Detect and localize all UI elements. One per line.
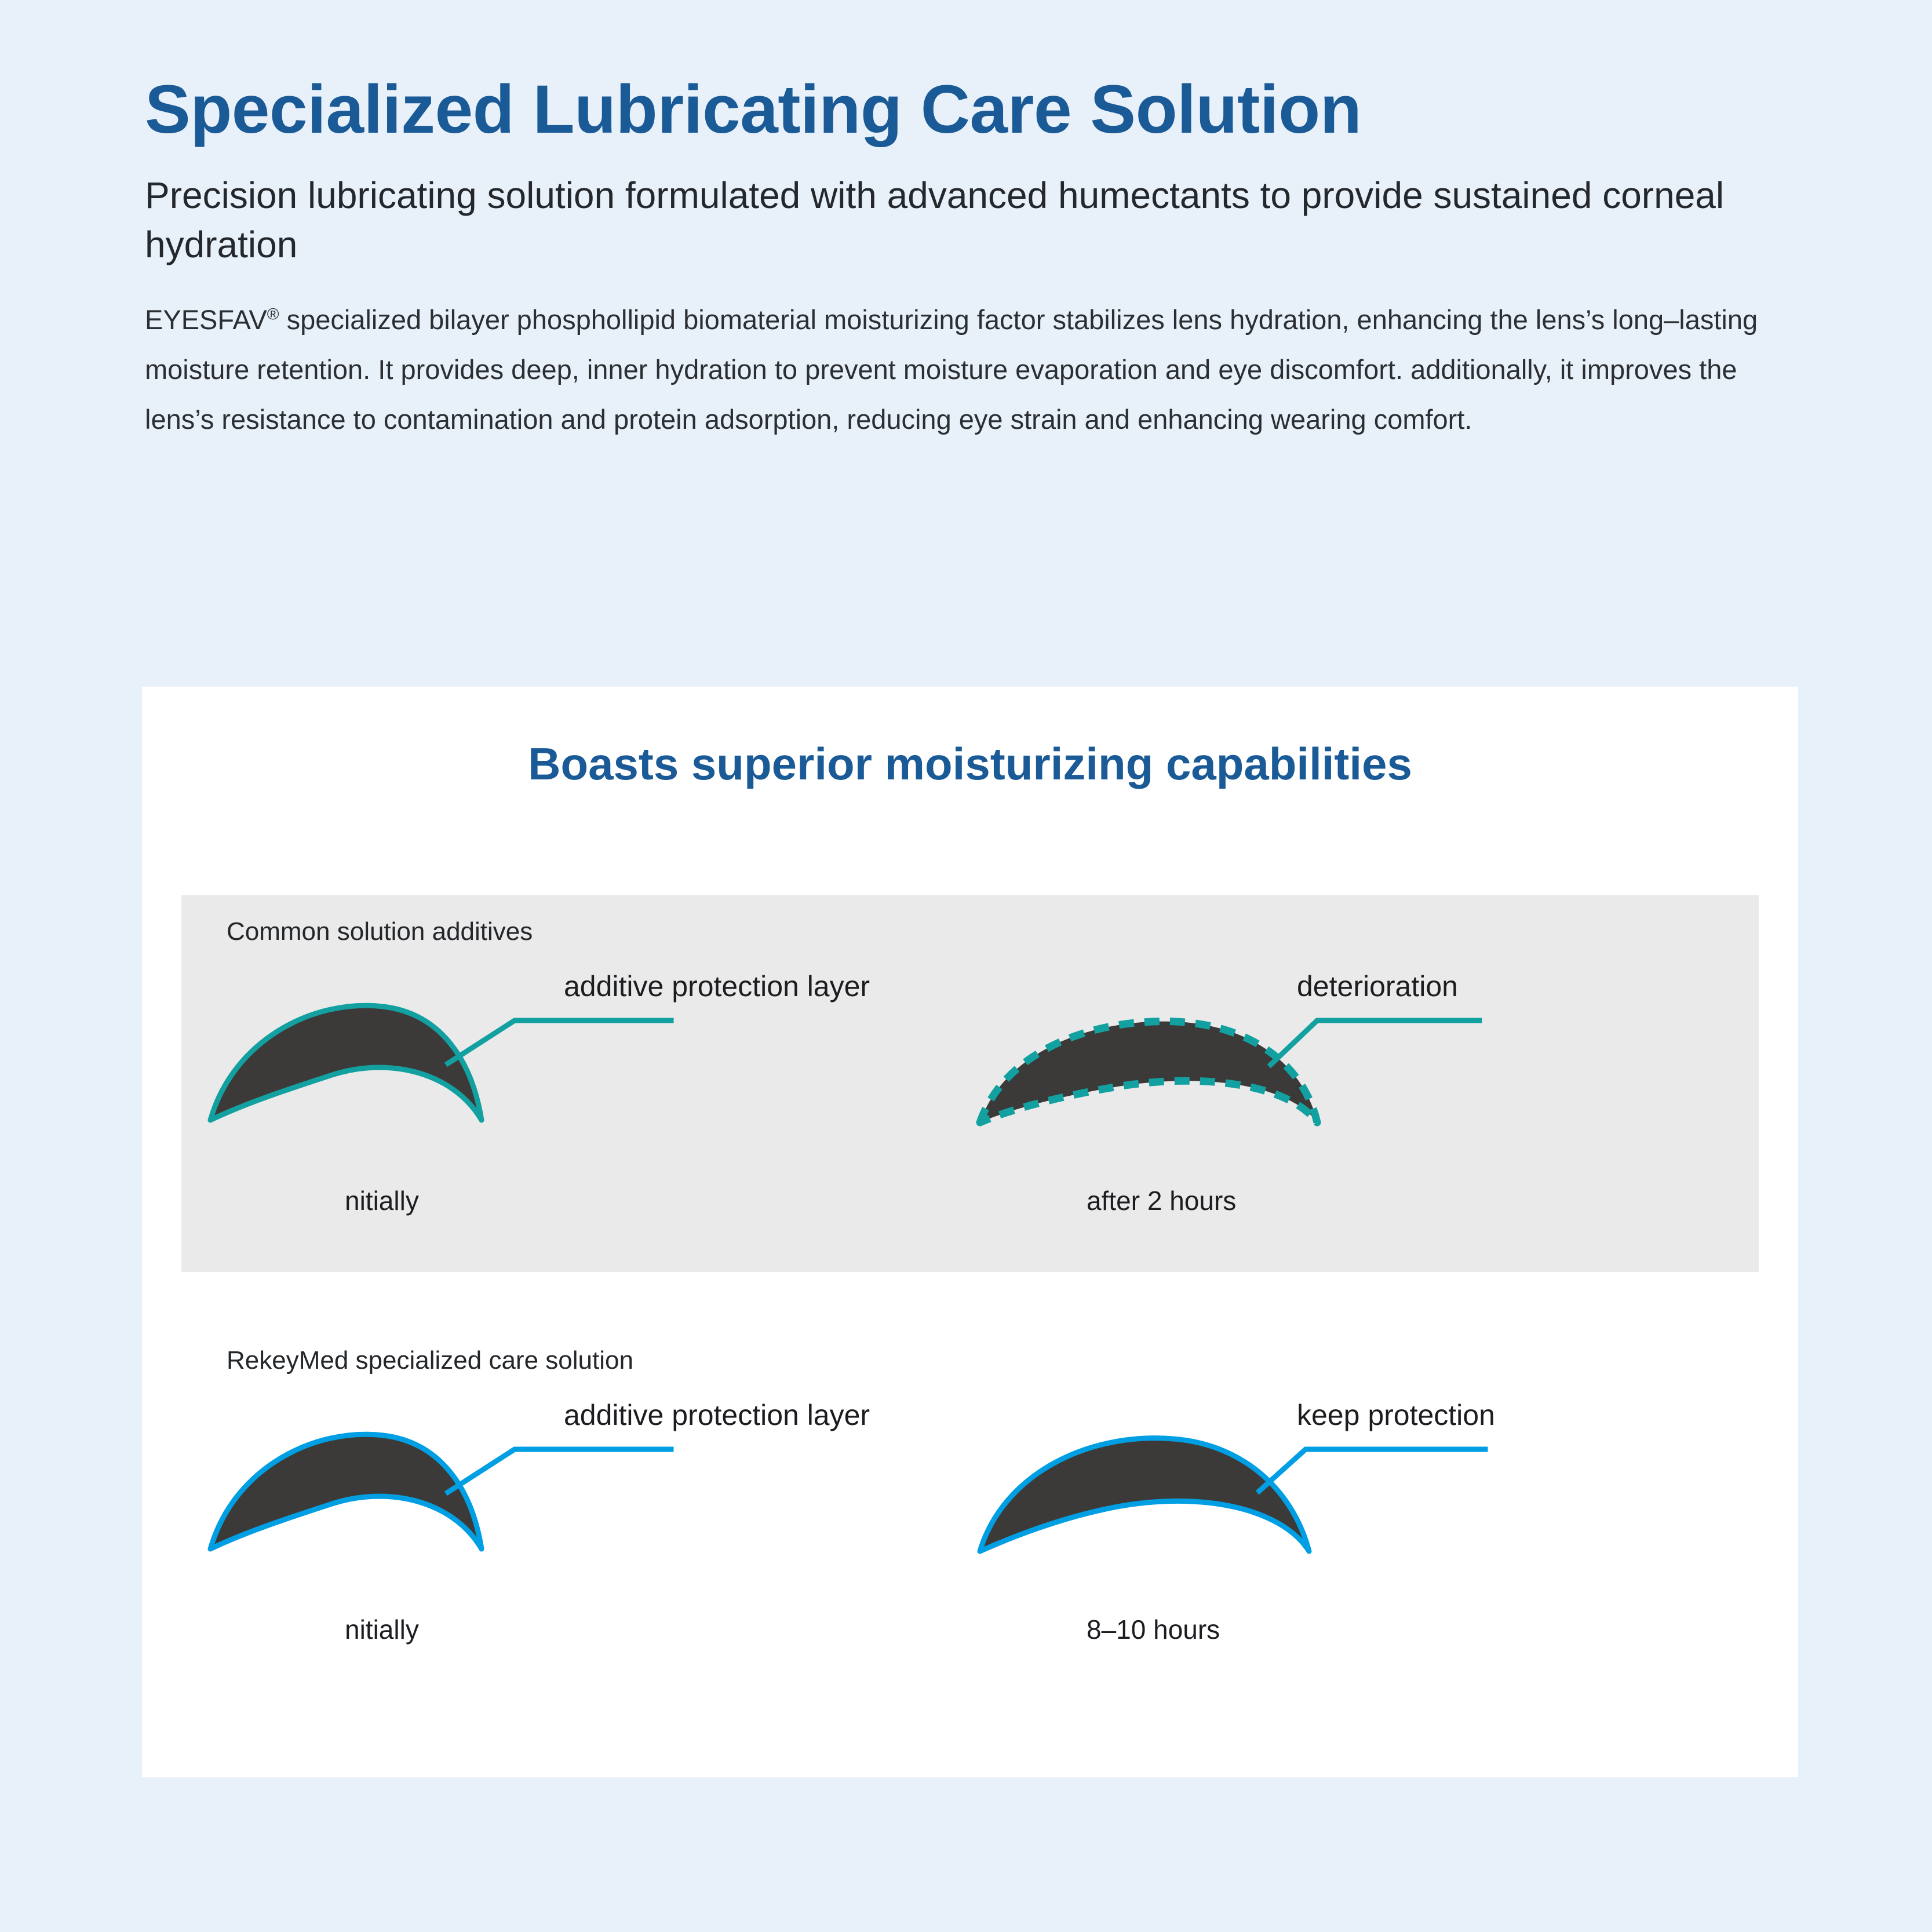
leader-line: [448, 1449, 671, 1492]
caption-nitially: nitially: [345, 1185, 419, 1216]
leader-line: [1271, 1020, 1479, 1065]
infographic-page: Specialized Lubricating Care Solution Pr…: [0, 0, 1932, 1932]
brand-name: EYESFAV: [145, 304, 267, 335]
leader-line: [1259, 1449, 1485, 1491]
caption-nitially: nitially: [345, 1614, 419, 1645]
header-block: Specialized Lubricating Care Solution Pr…: [145, 70, 1808, 444]
lens-shape-solid: [210, 1005, 482, 1120]
leader-line: [448, 1020, 671, 1063]
figure-common-after-2-hours: deterioration after 2 hours: [969, 965, 1740, 1255]
figure-common-initial: additive protection layer nitially: [199, 965, 969, 1255]
card-title: Boasts superior moisturizing capabilitie…: [142, 738, 1798, 790]
callout-additive-protection-layer: additive protection layer: [564, 969, 870, 1003]
caption-after-2-hours: after 2 hours: [1087, 1185, 1236, 1216]
page-title: Specialized Lubricating Care Solution: [145, 70, 1808, 150]
lens-shape-solid: [210, 1434, 482, 1549]
lens-shape-solid: [980, 1438, 1309, 1551]
callout-deterioration: deterioration: [1297, 969, 1458, 1003]
figure-rekeymed-8-10-hours: keep protection 8–10 hours: [969, 1394, 1740, 1683]
page-body-paragraph: EYESFAV® specialized bilayer phosphollip…: [145, 295, 1808, 444]
comparison-card: Boasts superior moisturizing capabilitie…: [142, 687, 1798, 1777]
panel-rekeymed-specialized-care-solution: RekeyMed specialized care solution addit…: [181, 1324, 1759, 1701]
registered-trademark-icon: ®: [267, 305, 279, 323]
callout-keep-protection: keep protection: [1297, 1398, 1495, 1432]
panel-label-common: Common solution additives: [227, 917, 533, 946]
panel-common-solution-additives: Common solution additives additive prote…: [181, 895, 1759, 1272]
panel-label-rekeymed: RekeyMed specialized care solution: [227, 1346, 633, 1375]
page-subtitle: Precision lubricating solution formulate…: [145, 171, 1785, 269]
figure-rekeymed-initial: additive protection layer nitially: [199, 1394, 969, 1683]
lens-shape-dashed: [980, 1022, 1317, 1122]
callout-additive-protection-layer: additive protection layer: [564, 1398, 870, 1432]
caption-8-10-hours: 8–10 hours: [1087, 1614, 1220, 1645]
body-text: specialized bilayer phosphollipid biomat…: [145, 304, 1758, 434]
